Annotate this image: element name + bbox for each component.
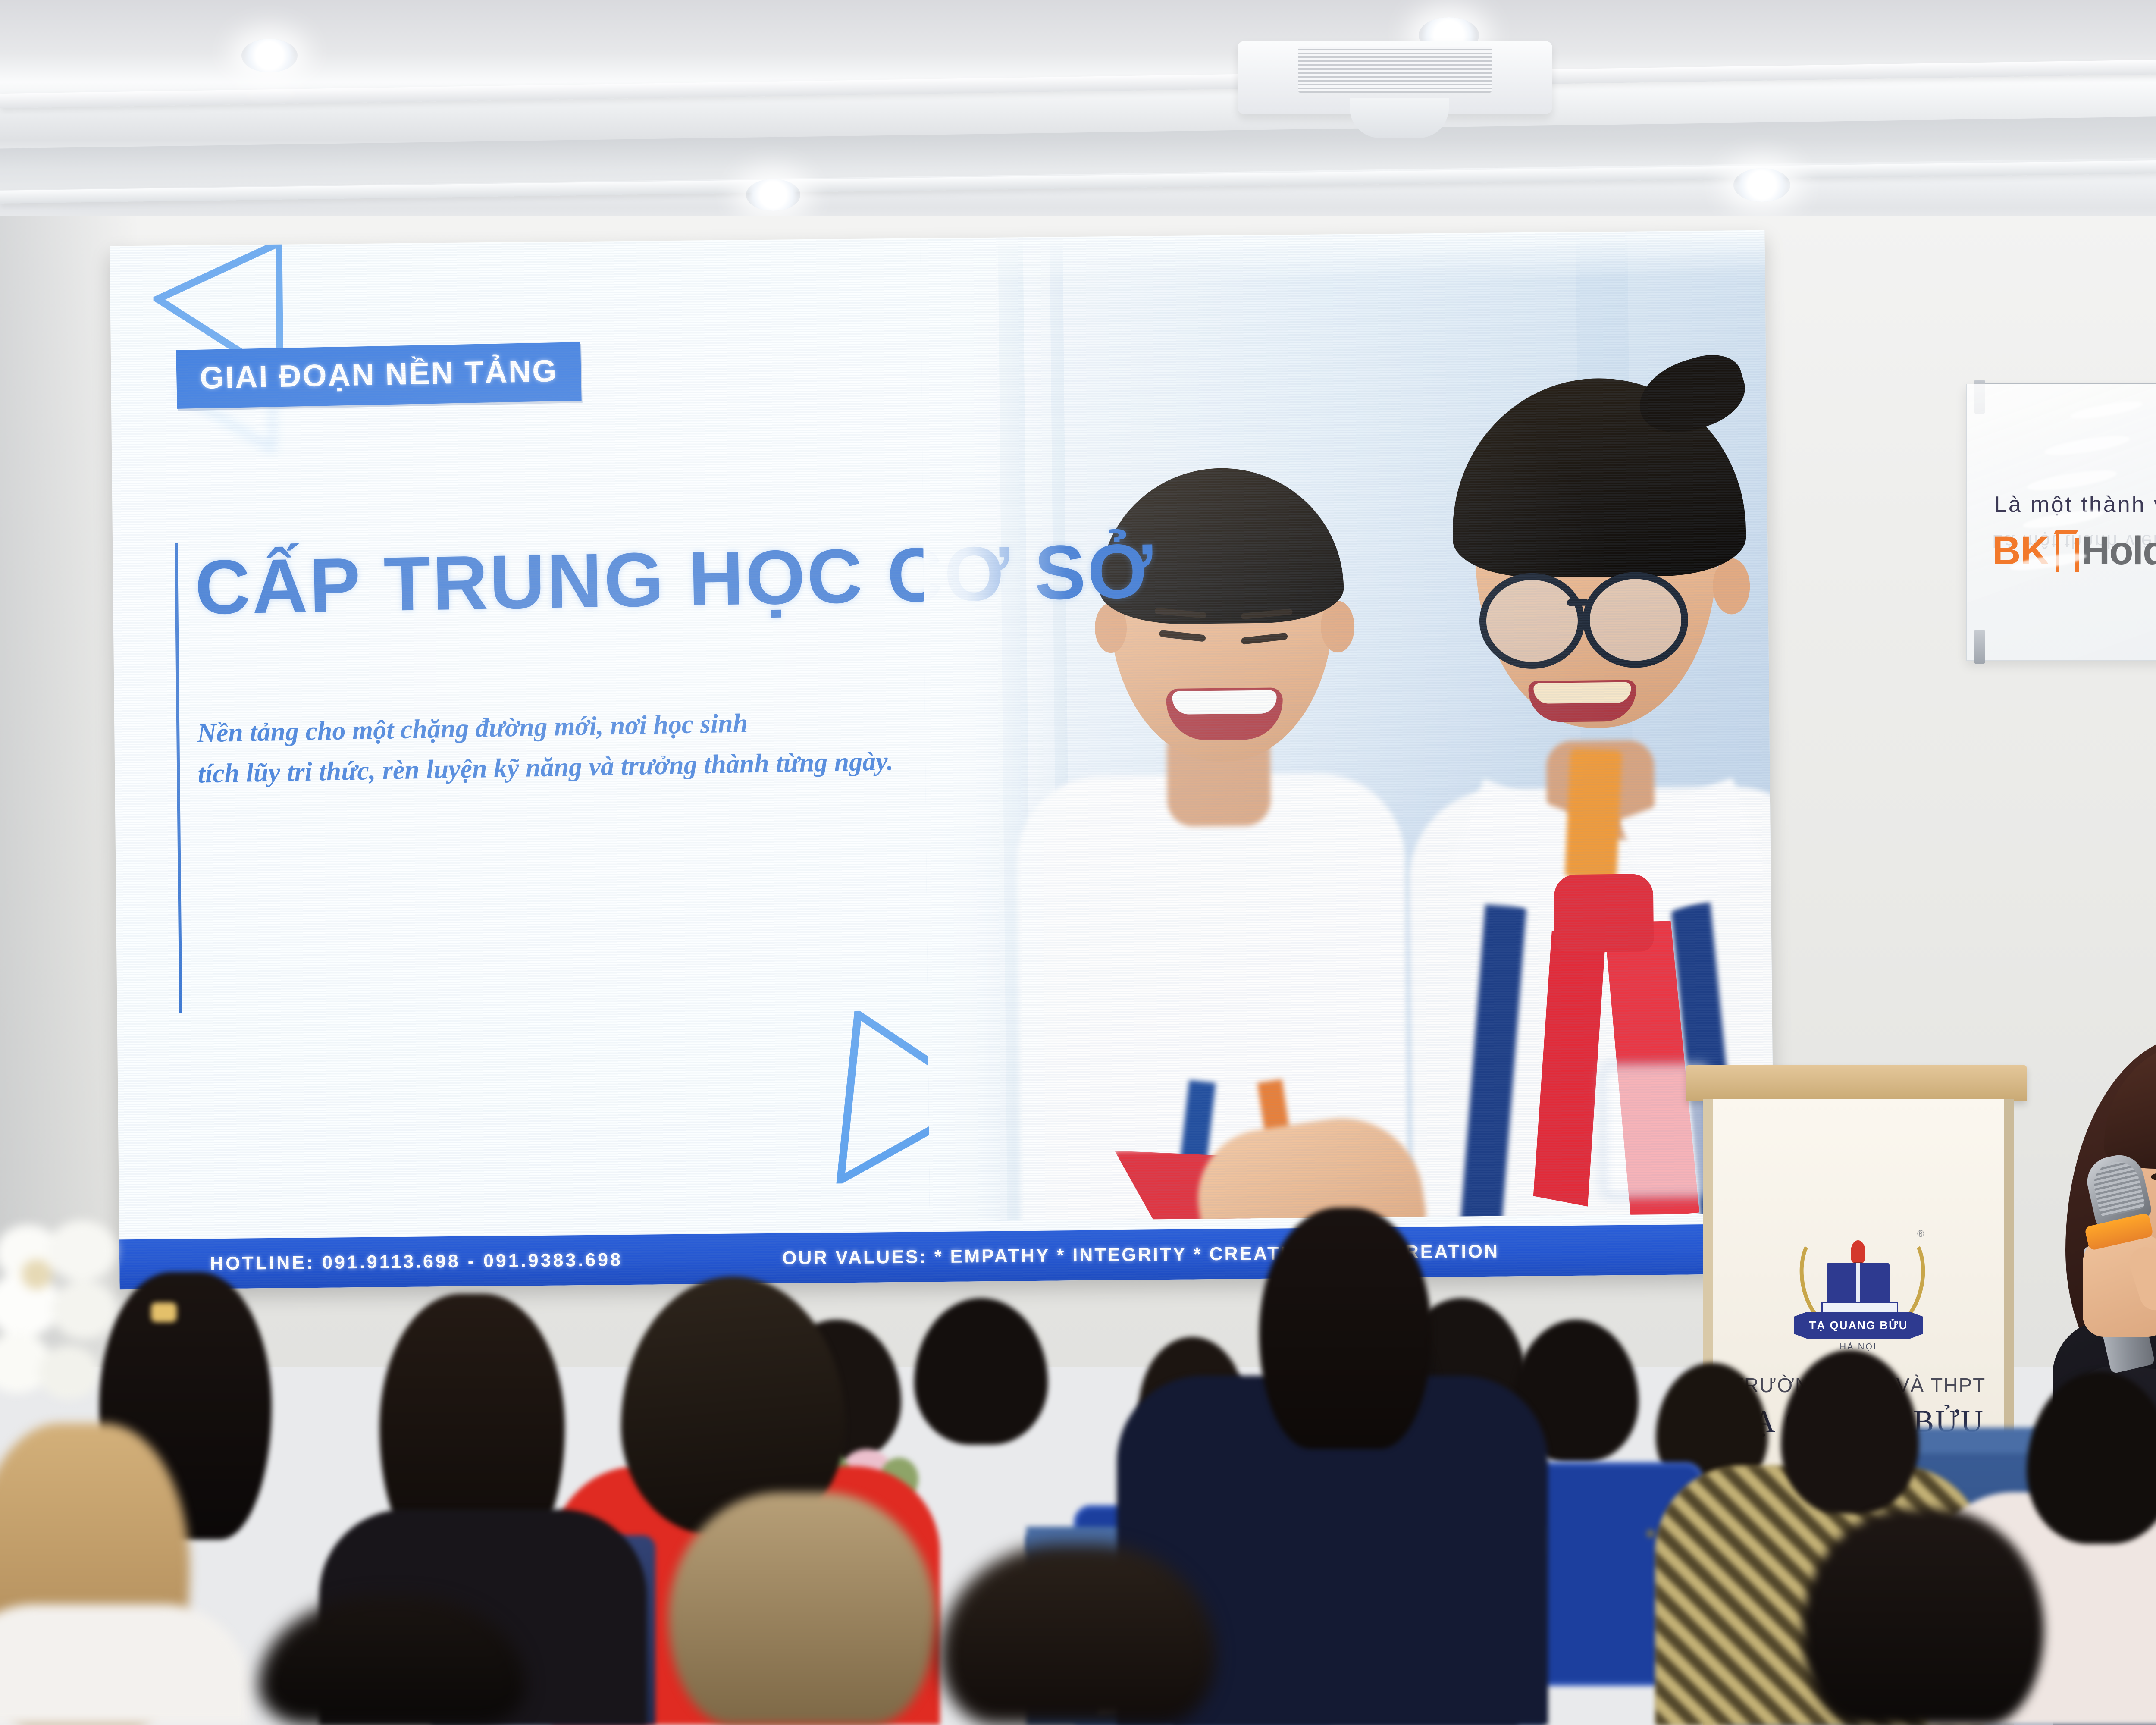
slide-hotline: HOTLINE: 091.9113.698 - 091.9383.698 [210, 1249, 623, 1274]
student-b-glasses-bridge [1567, 599, 1589, 606]
audience-light-hair [668, 1492, 936, 1725]
slide-photo [920, 230, 1774, 1222]
student-b-mouth [1528, 680, 1636, 722]
student-b-scarf-knot [1554, 874, 1654, 952]
downlight-icon [746, 179, 800, 211]
slide-stage-badge-label: GIAI ĐOẠN NỀN TẢNG [200, 355, 558, 394]
student-b-ear [1713, 558, 1750, 615]
slide-accent-rule [175, 543, 182, 1013]
photo-left-fade [920, 237, 1072, 1221]
holdings-wordmark: Holdings [2081, 528, 2156, 574]
ceiling-unit-nose [1350, 98, 1449, 138]
crest-registered-mark: ® [1917, 1228, 1924, 1239]
downlight-icon [1733, 168, 1790, 202]
ceiling-unit-grille [1298, 47, 1492, 93]
audience-head [1802, 1509, 2044, 1725]
school-crest: TẠ QUANG BỬU HÀ NỘI ® [1785, 1216, 1932, 1367]
photo-top-fade [920, 230, 1770, 286]
slide-stage-badge: GIAI ĐOẠN NỀN TẢNG [176, 342, 582, 409]
audience-head [2027, 1371, 2156, 1544]
conference-room-photo: GIAI ĐOẠN NỀN TẢNG CẤP TRUNG HỌC CƠ SỞ N… [0, 0, 2156, 1725]
student-b-tie [1565, 748, 1622, 880]
podium-top [1686, 1065, 2027, 1101]
hair-clip [151, 1302, 177, 1322]
crest-ribbon-label: TẠ QUANG BỬU [1794, 1312, 1923, 1339]
crest-ribbon: TẠ QUANG BỬU [1794, 1312, 1923, 1339]
downlight-icon [241, 39, 298, 72]
ceiling [0, 0, 2156, 241]
torch-flame-icon [1851, 1240, 1865, 1264]
audience-long-hair [1259, 1207, 1432, 1449]
audience-shoulders [0, 1604, 250, 1725]
sign-standoff [1974, 630, 1985, 664]
presentation-screen: GIAI ĐOẠN NỀN TẢNG CẤP TRUNG HỌC CƠ SỞ N… [110, 230, 1774, 1290]
